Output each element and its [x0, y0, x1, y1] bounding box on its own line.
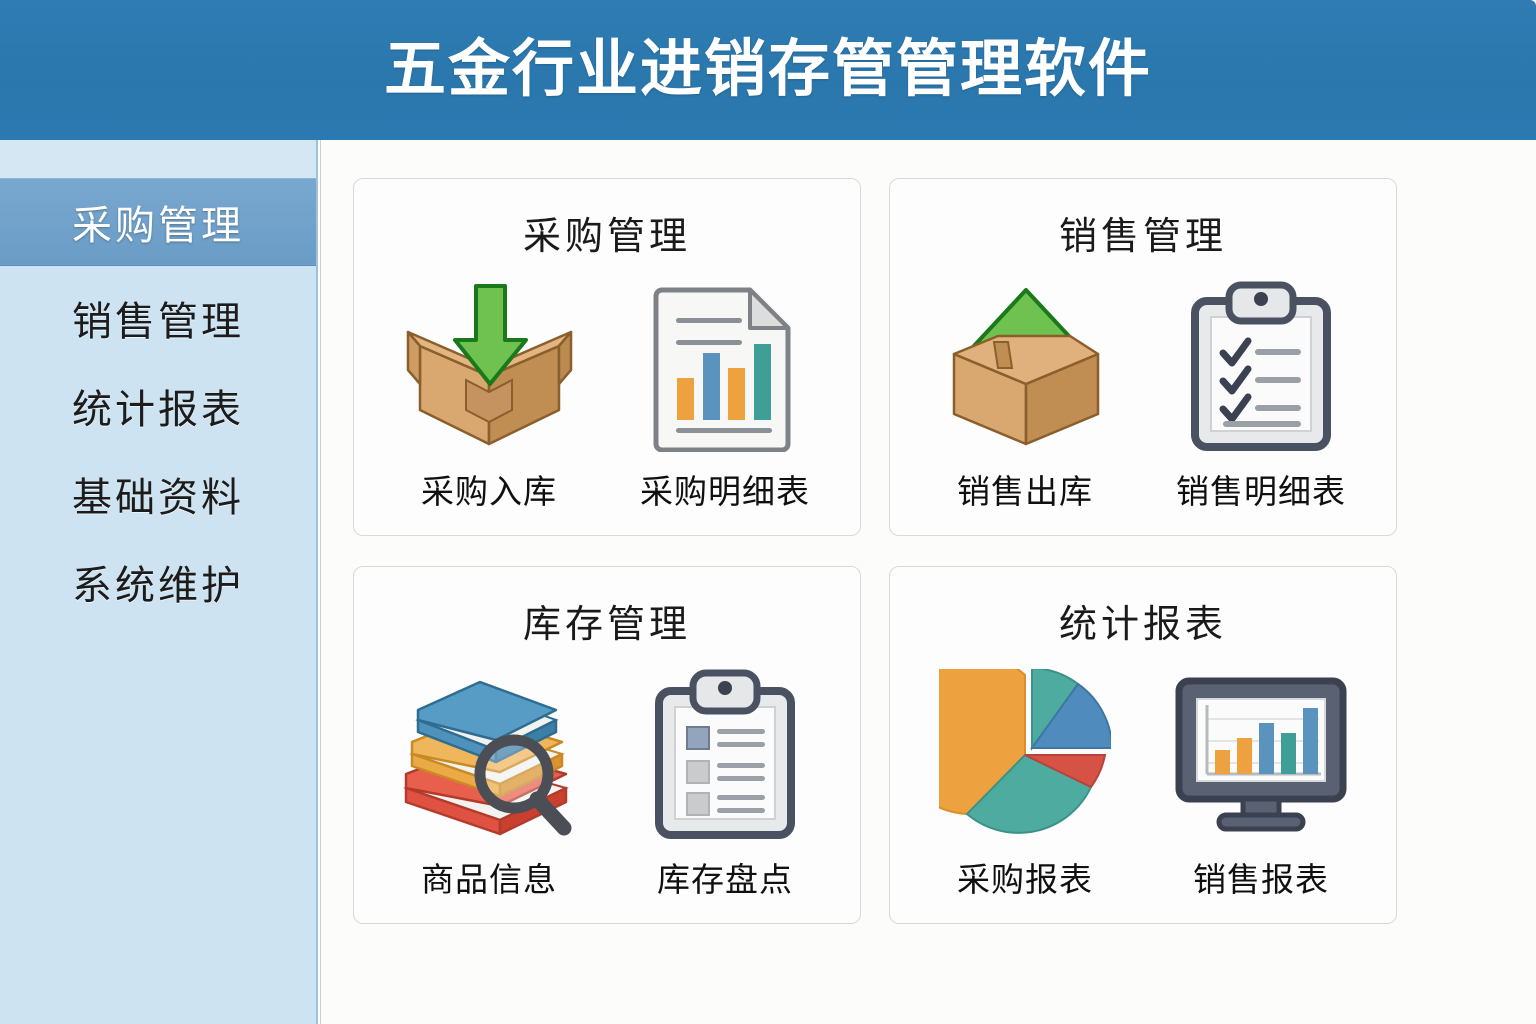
- tile-label: 销售明细表: [1176, 465, 1346, 513]
- clipboard-check-icon: [1187, 274, 1335, 459]
- card-sales-management: 销售管理: [889, 178, 1397, 536]
- tile-sales-detail-report[interactable]: 销售明细表: [1161, 274, 1361, 513]
- sidebar-item-sales[interactable]: 销售管理: [0, 274, 316, 362]
- sidebar-divider: [0, 266, 316, 274]
- card-title: 统计报表: [1059, 593, 1227, 648]
- card-statistics-reports: 统计报表: [889, 566, 1397, 924]
- sidebar-item-label: 系统维护: [72, 553, 244, 611]
- tile-sales-report[interactable]: 销售报表: [1161, 662, 1361, 901]
- tile-purchase-report[interactable]: 采购报表: [925, 662, 1125, 901]
- tile-label: 销售出库: [957, 465, 1093, 513]
- books-magnifier-icon: [396, 662, 582, 847]
- document-bar-chart-icon: [650, 274, 800, 459]
- sidebar-item-system[interactable]: 系统维护: [0, 538, 316, 626]
- box-arrow-down-icon: [402, 274, 577, 459]
- app-title: 五金行业进销存管管理软件: [384, 39, 1152, 101]
- tile-inventory-count[interactable]: 库存盘点: [625, 662, 825, 901]
- card-tiles: 销售出库: [890, 274, 1396, 513]
- app-header: 五金行业进销存管管理软件: [0, 0, 1536, 140]
- clipboard-list-icon: [651, 662, 799, 847]
- tile-label: 采购入库: [421, 465, 557, 513]
- card-tiles: 采购报表: [890, 662, 1396, 901]
- card-title: 库存管理: [523, 593, 691, 648]
- tile-sales-outbound[interactable]: 销售出库: [925, 274, 1125, 513]
- sidebar-item-purchase[interactable]: 采购管理: [0, 178, 316, 266]
- sidebar-item-label: 采购管理: [72, 193, 244, 251]
- tile-purchase-detail-report[interactable]: 采购明细表: [625, 274, 825, 513]
- module-card-grid: 采购管理: [353, 178, 1506, 924]
- card-purchase-management: 采购管理: [353, 178, 861, 536]
- tile-label: 销售报表: [1193, 853, 1329, 901]
- sidebar-item-reports[interactable]: 统计报表: [0, 362, 316, 450]
- tile-label: 采购报表: [957, 853, 1093, 901]
- sidebar-item-basic-data[interactable]: 基础资料: [0, 450, 316, 538]
- tile-label: 采购明细表: [640, 465, 810, 513]
- box-arrow-up-icon: [938, 274, 1113, 459]
- tile-label: 库存盘点: [657, 853, 793, 901]
- sidebar-nav: 采购管理 销售管理 统计报表 基础资料 系统维护: [0, 140, 318, 1024]
- sidebar-item-label: 基础资料: [72, 465, 244, 523]
- app-window: 五金行业进销存管管理软件 采购管理 销售管理 统计报表 基础资料 系统维护 采购…: [0, 0, 1536, 1024]
- card-tiles: 采购入库: [354, 274, 860, 513]
- sidebar-item-label: 统计报表: [72, 377, 244, 435]
- tile-purchase-inbound[interactable]: 采购入库: [389, 274, 589, 513]
- monitor-bar-chart-icon: [1171, 662, 1351, 847]
- card-inventory-management: 库存管理: [353, 566, 861, 924]
- card-tiles: 商品信息: [354, 662, 860, 901]
- sidebar-top-gap: [0, 140, 316, 178]
- card-title: 采购管理: [523, 205, 691, 260]
- main-content: 采购管理: [320, 140, 1536, 1024]
- pie-chart-icon: [939, 662, 1111, 847]
- sidebar-item-label: 销售管理: [72, 289, 244, 347]
- tile-product-info[interactable]: 商品信息: [389, 662, 589, 901]
- tile-label: 商品信息: [421, 853, 557, 901]
- card-title: 销售管理: [1059, 205, 1227, 260]
